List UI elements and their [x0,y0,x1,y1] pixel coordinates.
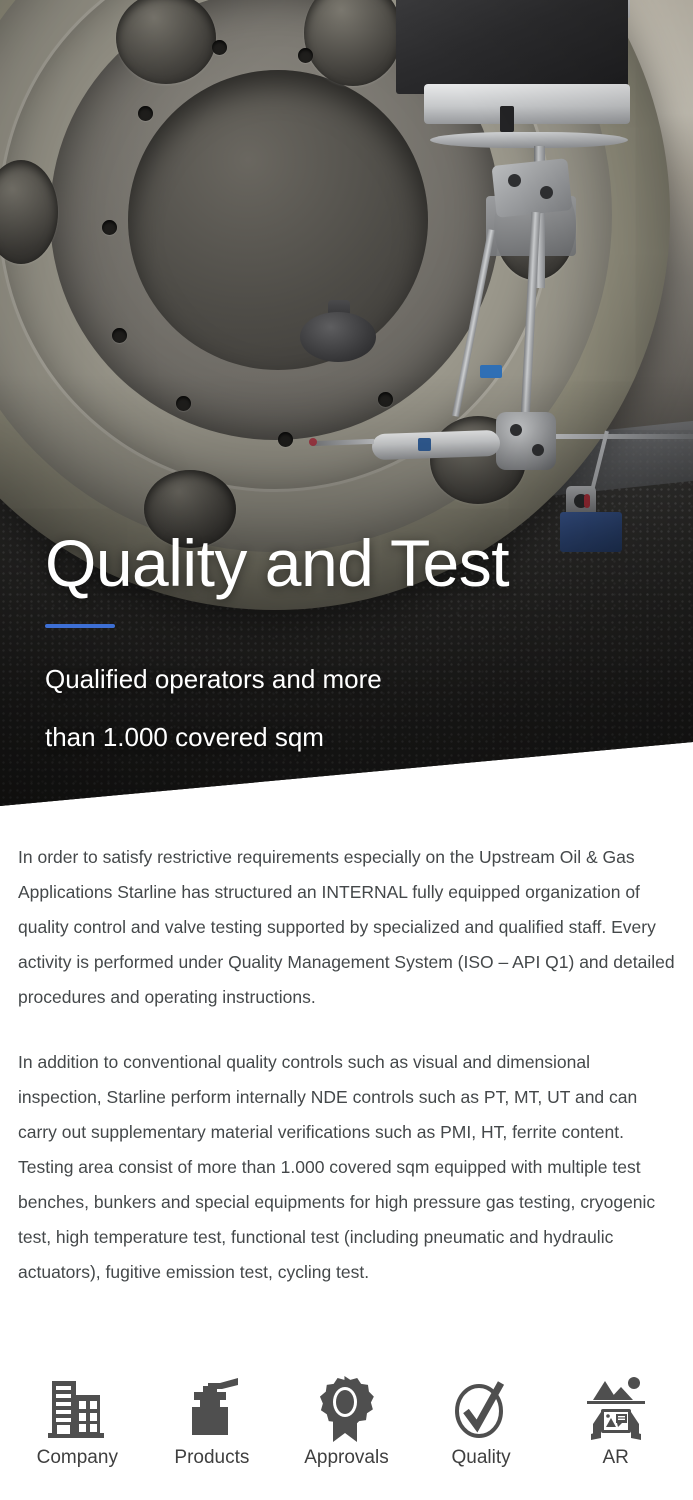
hero-subtitle: Qualified operators and more than 1.000 … [45,650,645,766]
nav-label-products: Products [174,1446,249,1470]
page-title: Quality and Test [45,526,645,600]
augmented-reality-tablet-icon [585,1372,647,1446]
check-circle-icon [451,1372,511,1446]
body-paragraph-2: In addition to conventional quality cont… [18,1045,675,1290]
nav-item-company[interactable]: Company [15,1372,140,1470]
nav-item-products[interactable]: Products [149,1372,274,1470]
nav-label-company: Company [37,1446,118,1470]
nav-label-approvals: Approvals [304,1446,389,1470]
content-section: In order to satisfy restrictive requirem… [0,840,693,1290]
nav-label-quality: Quality [452,1446,511,1470]
nav-item-approvals[interactable]: Approvals [284,1372,409,1470]
bottom-navigation: Company Products Approvals [0,1372,693,1500]
nav-label-ar: AR [602,1446,628,1470]
body-paragraph-1: In order to satisfy restrictive requirem… [18,840,675,1015]
hero-text-block: Quality and Test Qualified operators and… [45,526,645,766]
hero-section: Quality and Test Qualified operators and… [0,0,693,812]
title-accent-rule [45,624,115,628]
award-rosette-icon [318,1372,374,1446]
nav-item-ar[interactable]: AR [553,1372,678,1470]
hero-subtitle-line-1: Qualified operators and more [45,650,645,708]
hero-subtitle-line-2: than 1.000 covered sqm [45,708,645,766]
building-icon [48,1372,106,1446]
ball-valve-icon [180,1372,244,1446]
nav-item-quality[interactable]: Quality [419,1372,544,1470]
